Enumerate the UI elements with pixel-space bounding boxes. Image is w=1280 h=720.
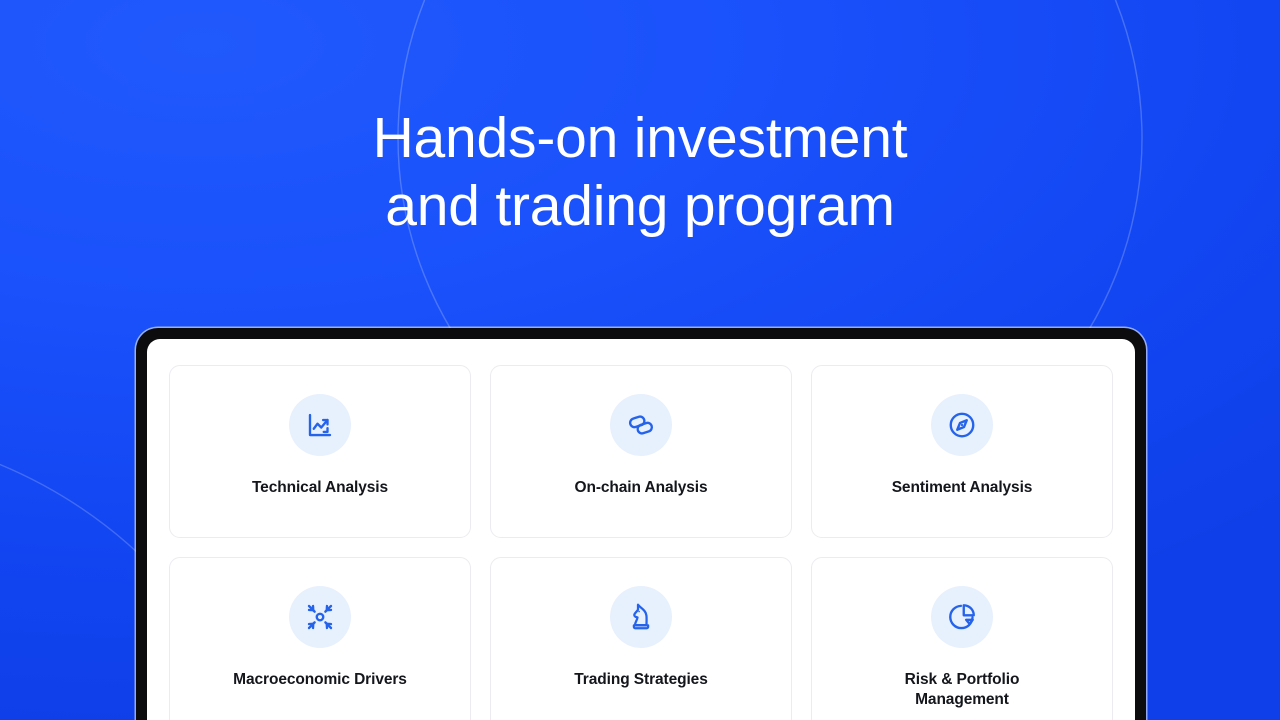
chain-link-icon (610, 394, 672, 456)
card-label: Trading Strategies (564, 670, 717, 690)
card-risk-portfolio-management[interactable]: Risk & Portfolio Management (811, 557, 1113, 720)
laptop-screen: Technical Analysis On-chain Analysis (147, 339, 1135, 720)
card-sentiment-analysis[interactable]: Sentiment Analysis (811, 365, 1113, 538)
laptop-frame: Technical Analysis On-chain Analysis (136, 328, 1146, 720)
compass-icon (931, 394, 993, 456)
card-label: Macroeconomic Drivers (223, 670, 417, 690)
card-technical-analysis[interactable]: Technical Analysis (169, 365, 471, 538)
chart-trending-up-icon (289, 394, 351, 456)
card-label: Sentiment Analysis (882, 478, 1043, 498)
arrows-converge-icon (289, 586, 351, 648)
pie-chart-icon (931, 586, 993, 648)
card-trading-strategies[interactable]: Trading Strategies (490, 557, 792, 720)
card-label: On-chain Analysis (565, 478, 718, 498)
topics-grid: Technical Analysis On-chain Analysis (169, 365, 1113, 720)
page-title: Hands-on investment and trading program (0, 104, 1280, 240)
card-label: Risk & Portfolio Management (895, 670, 1030, 710)
card-on-chain-analysis[interactable]: On-chain Analysis (490, 365, 792, 538)
chess-knight-icon (610, 586, 672, 648)
card-macroeconomic-drivers[interactable]: Macroeconomic Drivers (169, 557, 471, 720)
card-label: Technical Analysis (242, 478, 398, 498)
slide-root: Hands-on investment and trading program … (0, 0, 1280, 720)
